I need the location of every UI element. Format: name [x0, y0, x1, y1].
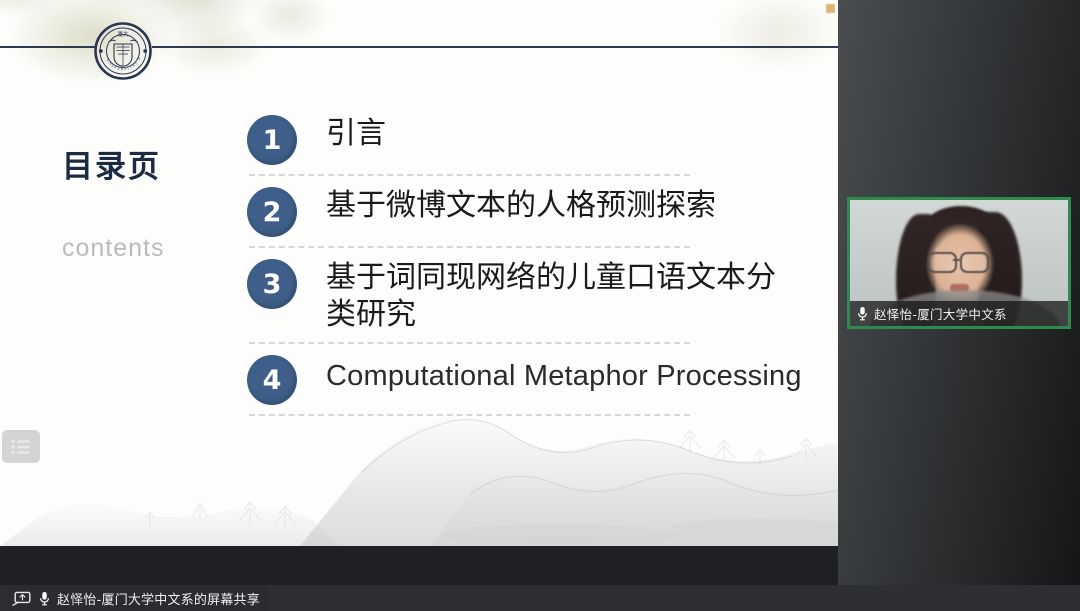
microphone-icon — [39, 591, 50, 606]
slide-marker-dot — [826, 4, 835, 13]
screen-share-status-text: 赵怿怡-厦门大学中文系的屏幕共享 — [57, 589, 260, 608]
shared-screen-slide[interactable]: 厦大 UNIVERSITAS AMOIENSIS 目录页 contents 1 … — [0, 0, 838, 546]
slide-letterbox — [0, 546, 838, 585]
item-divider — [249, 174, 690, 176]
item-number-badge: 3 — [247, 259, 297, 309]
bottom-status-bar: 赵怿怡-厦门大学中文系的屏幕共享 — [0, 585, 1080, 611]
video-name-bar: 赵怿怡-厦门大学中文系 — [850, 301, 1068, 326]
participant-video-tile[interactable]: 赵怿怡-厦门大学中文系 — [847, 197, 1071, 329]
item-label: 基于词同现网络的儿童口语文本分类研究 — [326, 257, 796, 333]
page-subtitle: contents — [62, 234, 252, 263]
watercolor-wash-decoration-3 — [668, 0, 838, 90]
participant-name: 赵怿怡-厦门大学中文系 — [874, 304, 1007, 323]
item-divider — [249, 342, 690, 344]
meeting-window: 厦大 UNIVERSITAS AMOIENSIS 目录页 contents 1 … — [0, 0, 1080, 611]
video-subject-glasses-bridge — [953, 259, 960, 261]
list-item[interactable]: 1 引言 — [247, 113, 827, 176]
screen-share-status[interactable]: 赵怿怡-厦门大学中文系的屏幕共享 — [8, 585, 270, 611]
list-item[interactable]: 3 基于词同现网络的儿童口语文本分类研究 — [247, 257, 827, 344]
list-item[interactable]: 4 Computational Metaphor Processing — [247, 353, 827, 416]
item-number-badge: 4 — [247, 355, 297, 405]
screen-share-icon — [12, 591, 31, 606]
item-label: 基于微博文本的人格预测探索 — [326, 185, 716, 225]
item-divider — [249, 414, 690, 416]
item-label: Computational Metaphor Processing — [326, 353, 802, 394]
item-label: 引言 — [326, 113, 386, 153]
header-rule-right — [152, 46, 838, 48]
microphone-icon — [857, 306, 868, 321]
contents-list: 1 引言 2 基于微博文本的人格预测探索 3 基于词同现网络的儿童口语文本分类研… — [247, 113, 827, 425]
slide-title-block: 目录页 contents — [62, 150, 252, 263]
list-menu-icon[interactable] — [2, 430, 40, 463]
svg-text:厦大: 厦大 — [118, 30, 129, 38]
item-divider — [249, 246, 690, 248]
video-subject-glasses-left — [928, 252, 957, 273]
item-number-badge: 2 — [247, 187, 297, 237]
item-number-badge: 1 — [247, 115, 297, 165]
page-title: 目录页 — [62, 150, 252, 184]
video-subject-glasses-right — [960, 252, 989, 273]
list-item[interactable]: 2 基于微博文本的人格预测探索 — [247, 185, 827, 248]
xiamen-university-seal-icon: 厦大 UNIVERSITAS AMOIENSIS — [94, 22, 152, 80]
header-rule-left — [0, 46, 96, 48]
